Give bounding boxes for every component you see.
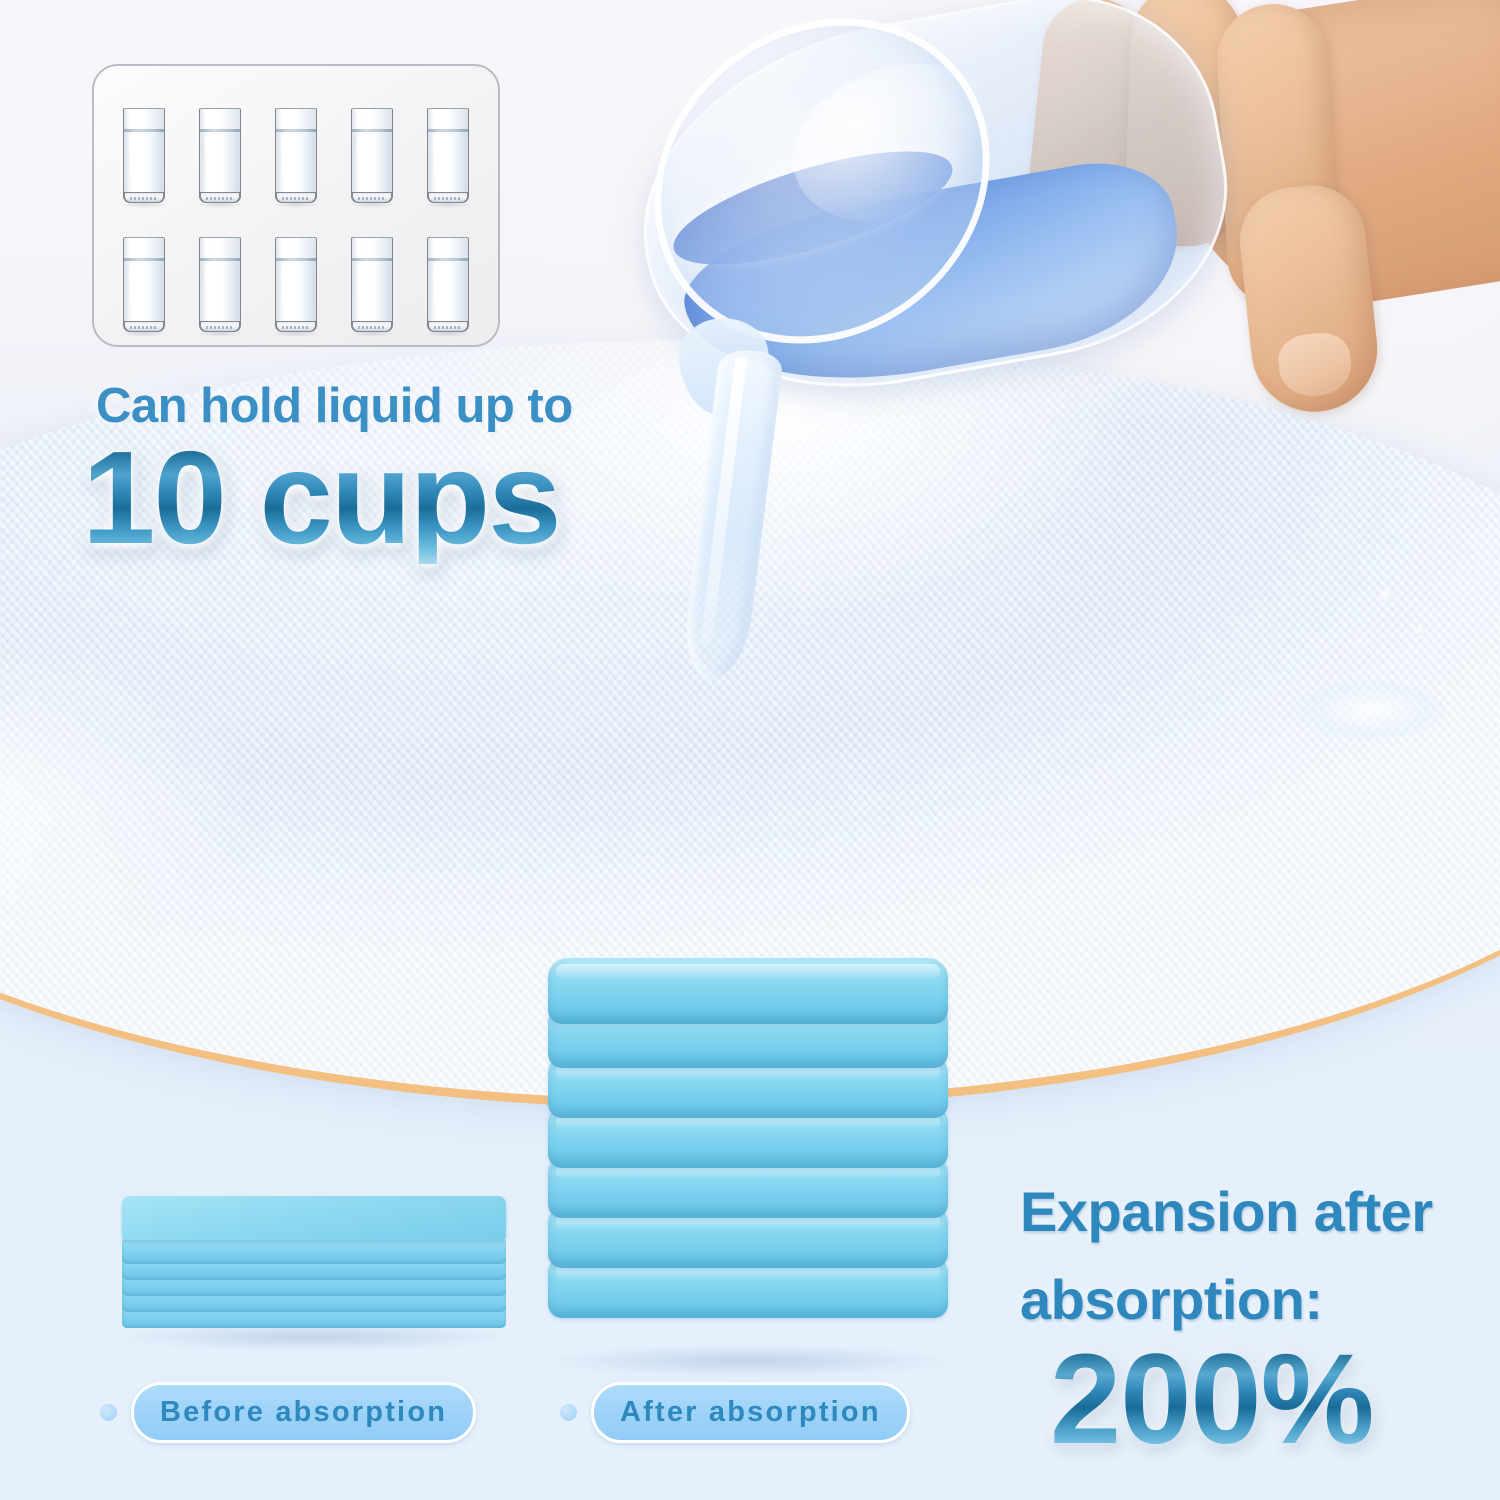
glass-row-top (106, 76, 486, 206)
after-absorption-label-group: After absorption (560, 1382, 910, 1443)
pad-roll-top (548, 958, 948, 1024)
water-glass-icon (348, 235, 396, 335)
water-bubble (1380, 590, 1394, 604)
splash-glow (1295, 680, 1445, 740)
thumb (1235, 180, 1384, 418)
water-glass-icon (120, 106, 168, 206)
water-glass-icon (424, 235, 472, 335)
water-glass-icon (196, 235, 244, 335)
water-glass-icon (272, 106, 320, 206)
glass-row-bottom (106, 206, 486, 336)
pouring-scene (640, 0, 1500, 460)
expansion-heading: Expansion after absorption: (1020, 1168, 1480, 1345)
before-absorption-label: Before absorption (131, 1382, 476, 1443)
thumbnail (1276, 330, 1354, 399)
bullet-dot-icon (560, 1404, 577, 1421)
water-glass-icon (424, 106, 472, 206)
product-infographic-poster: Can hold liquid up to 10 cups Before abs… (0, 0, 1500, 1500)
flat-pad-stack-before (122, 1196, 506, 1328)
expanded-pad-stack-after (548, 958, 948, 1358)
after-absorption-label: After absorption (591, 1382, 910, 1443)
water-glass-icon (120, 235, 168, 335)
water-glass-icon (348, 106, 396, 206)
before-absorption-label-group: Before absorption (100, 1382, 476, 1443)
expansion-heading-line1: Expansion after (1020, 1168, 1480, 1256)
water-glass-icon (196, 106, 244, 206)
water-bubble (1356, 638, 1364, 646)
pad-layer-top (122, 1196, 506, 1240)
water-bubble (1416, 626, 1426, 636)
expansion-percent-value: 200% (1050, 1336, 1373, 1464)
water-glass-icon (272, 235, 320, 335)
pad-layer (122, 1238, 506, 1264)
ten-water-glasses-grid (92, 64, 500, 347)
bullet-dot-icon (100, 1404, 117, 1421)
clear-glass-cup (640, 18, 1240, 378)
capacity-headline-value: 10 cups (82, 432, 560, 564)
